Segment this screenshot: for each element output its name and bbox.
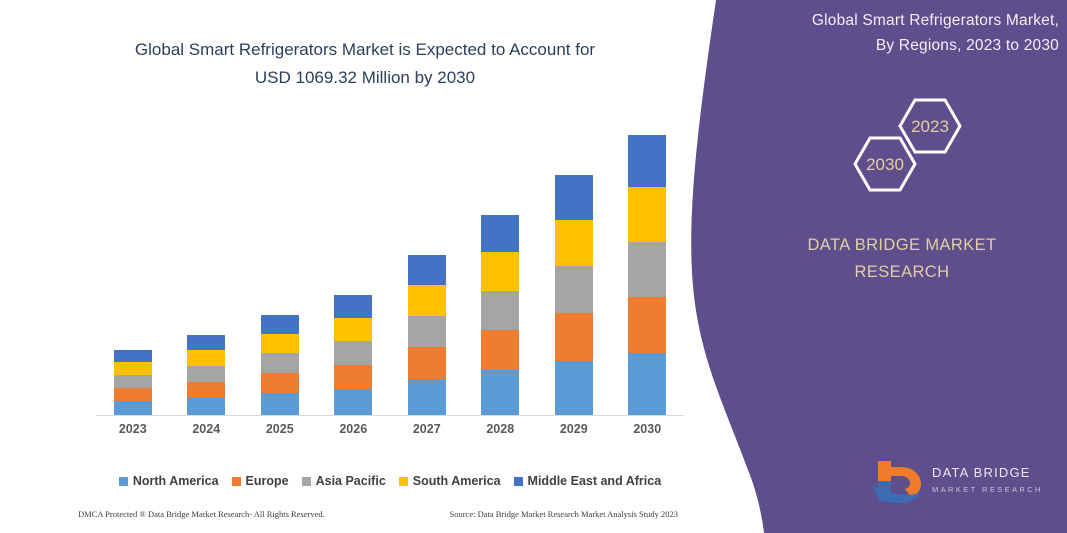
panel-title-line2: By Regions, 2023 to 2030: [747, 33, 1059, 58]
bar-segment[interactable]: [114, 350, 152, 362]
bar-segment[interactable]: [408, 255, 446, 285]
brand-name-line1: DATA BRIDGE MARKET: [807, 236, 996, 254]
legend-swatch-icon: [119, 477, 128, 486]
x-axis-labels: 20232024202520262027202820292030: [96, 422, 684, 442]
legend-swatch-icon: [302, 477, 311, 486]
x-axis-label-2028: 2028: [469, 422, 531, 442]
panel-title-line1: Global Smart Refrigerators Market,: [812, 12, 1059, 29]
stacked-bar[interactable]: [628, 135, 666, 415]
bar-segment[interactable]: [261, 334, 299, 353]
x-axis-line: [96, 415, 684, 416]
bar-segment[interactable]: [187, 382, 225, 398]
bar-column-2026: [322, 295, 384, 415]
bar-segment[interactable]: [481, 252, 519, 291]
bar-segment[interactable]: [555, 220, 593, 266]
legend-item[interactable]: Middle East and Africa: [514, 474, 662, 488]
bar-segment[interactable]: [628, 297, 666, 353]
bar-segment[interactable]: [261, 353, 299, 373]
bar-segment[interactable]: [187, 335, 225, 350]
brand-name: DATA BRIDGE MARKET RESEARCH: [737, 232, 1067, 286]
x-axis-label-2030: 2030: [616, 422, 678, 442]
x-axis-label-2023: 2023: [102, 422, 164, 442]
logo-b-mark-icon: [872, 461, 921, 503]
data-bridge-logo: DATA BRIDGE MARKET RESEARCH: [870, 457, 1045, 503]
bar-segment[interactable]: [555, 175, 593, 220]
logo-text-line1: DATA BRIDGE: [932, 465, 1031, 480]
logo-text-line2: MARKET RESEARCH: [932, 485, 1043, 494]
bar-column-2025: [249, 315, 311, 415]
bar-segment[interactable]: [261, 393, 299, 415]
hexagon-group: 2030 2023: [737, 92, 1067, 192]
bar-segment[interactable]: [481, 330, 519, 370]
bar-segment[interactable]: [187, 350, 225, 366]
chart-title: Global Smart Refrigerators Market is Exp…: [40, 36, 690, 92]
bar-segment[interactable]: [334, 295, 372, 318]
bar-column-2023: [102, 350, 164, 415]
bar-segment[interactable]: [114, 375, 152, 388]
bar-segment[interactable]: [408, 316, 446, 347]
footer-source: Source: Data Bridge Market Research Mark…: [449, 509, 678, 519]
hexagon-2023-label: 2023: [911, 117, 949, 136]
stacked-bar[interactable]: [408, 255, 446, 415]
stacked-bar[interactable]: [334, 295, 372, 415]
bar-segment[interactable]: [481, 370, 519, 415]
bar-segment[interactable]: [261, 373, 299, 393]
chart-plot-area: [96, 120, 684, 416]
legend-label: Europe: [246, 474, 289, 488]
bar-group: [96, 120, 684, 415]
stacked-bar[interactable]: [481, 215, 519, 415]
bar-column-2028: [469, 215, 531, 415]
infographic-root: Global Smart Refrigerators Market, By Re…: [0, 0, 1067, 533]
bar-segment[interactable]: [555, 361, 593, 415]
bar-segment[interactable]: [187, 366, 225, 382]
hexagon-2030-label: 2030: [866, 155, 904, 174]
bar-segment[interactable]: [187, 398, 225, 415]
stacked-bar[interactable]: [114, 350, 152, 415]
bar-column-2029: [543, 175, 605, 415]
bar-segment[interactable]: [408, 347, 446, 379]
bar-column-2027: [396, 255, 458, 415]
legend-item[interactable]: North America: [119, 474, 219, 488]
x-axis-label-2026: 2026: [322, 422, 384, 442]
x-axis-label-2024: 2024: [175, 422, 237, 442]
chart-title-line2: USD 1069.32 Million by 2030: [40, 64, 690, 92]
bar-segment[interactable]: [628, 135, 666, 187]
bar-segment[interactable]: [334, 389, 372, 415]
panel-title: Global Smart Refrigerators Market, By Re…: [747, 8, 1059, 58]
bar-segment[interactable]: [628, 242, 666, 297]
stacked-bar[interactable]: [555, 175, 593, 415]
bar-segment[interactable]: [114, 388, 152, 401]
bar-segment[interactable]: [408, 285, 446, 316]
x-axis-label-2027: 2027: [396, 422, 458, 442]
bar-segment[interactable]: [555, 313, 593, 361]
bar-segment[interactable]: [114, 362, 152, 375]
bar-segment[interactable]: [334, 341, 372, 365]
bar-segment[interactable]: [628, 187, 666, 242]
brand-name-line2: RESEARCH: [855, 263, 950, 281]
footer: DMCA Protected ® Data Bridge Market Rese…: [78, 506, 678, 522]
bar-segment[interactable]: [114, 401, 152, 415]
panel-content: Global Smart Refrigerators Market, By Re…: [737, 0, 1067, 533]
stacked-bar[interactable]: [261, 315, 299, 415]
stacked-bar[interactable]: [187, 335, 225, 415]
chart-legend: North AmericaEuropeAsia PacificSouth Ame…: [96, 471, 684, 491]
bar-segment[interactable]: [261, 315, 299, 334]
legend-swatch-icon: [514, 477, 523, 486]
bar-segment[interactable]: [408, 379, 446, 415]
footer-copyright: DMCA Protected ® Data Bridge Market Rese…: [78, 509, 325, 519]
chart-title-line1: Global Smart Refrigerators Market is Exp…: [135, 40, 595, 59]
legend-swatch-icon: [232, 477, 241, 486]
bar-segment[interactable]: [334, 318, 372, 341]
bar-column-2030: [616, 135, 678, 415]
legend-item[interactable]: Europe: [232, 474, 289, 488]
legend-label: Middle East and Africa: [528, 474, 662, 488]
bar-column-2024: [175, 335, 237, 415]
legend-label: North America: [133, 474, 219, 488]
bar-segment[interactable]: [555, 266, 593, 313]
bar-segment[interactable]: [481, 291, 519, 330]
legend-label: Asia Pacific: [316, 474, 386, 488]
legend-item[interactable]: Asia Pacific: [302, 474, 386, 488]
bar-segment[interactable]: [481, 215, 519, 252]
legend-swatch-icon: [399, 477, 408, 486]
legend-item[interactable]: South America: [399, 474, 501, 488]
x-axis-label-2029: 2029: [543, 422, 605, 442]
bar-segment[interactable]: [628, 353, 666, 415]
bar-segment[interactable]: [334, 365, 372, 389]
x-axis-label-2025: 2025: [249, 422, 311, 442]
legend-label: South America: [413, 474, 501, 488]
